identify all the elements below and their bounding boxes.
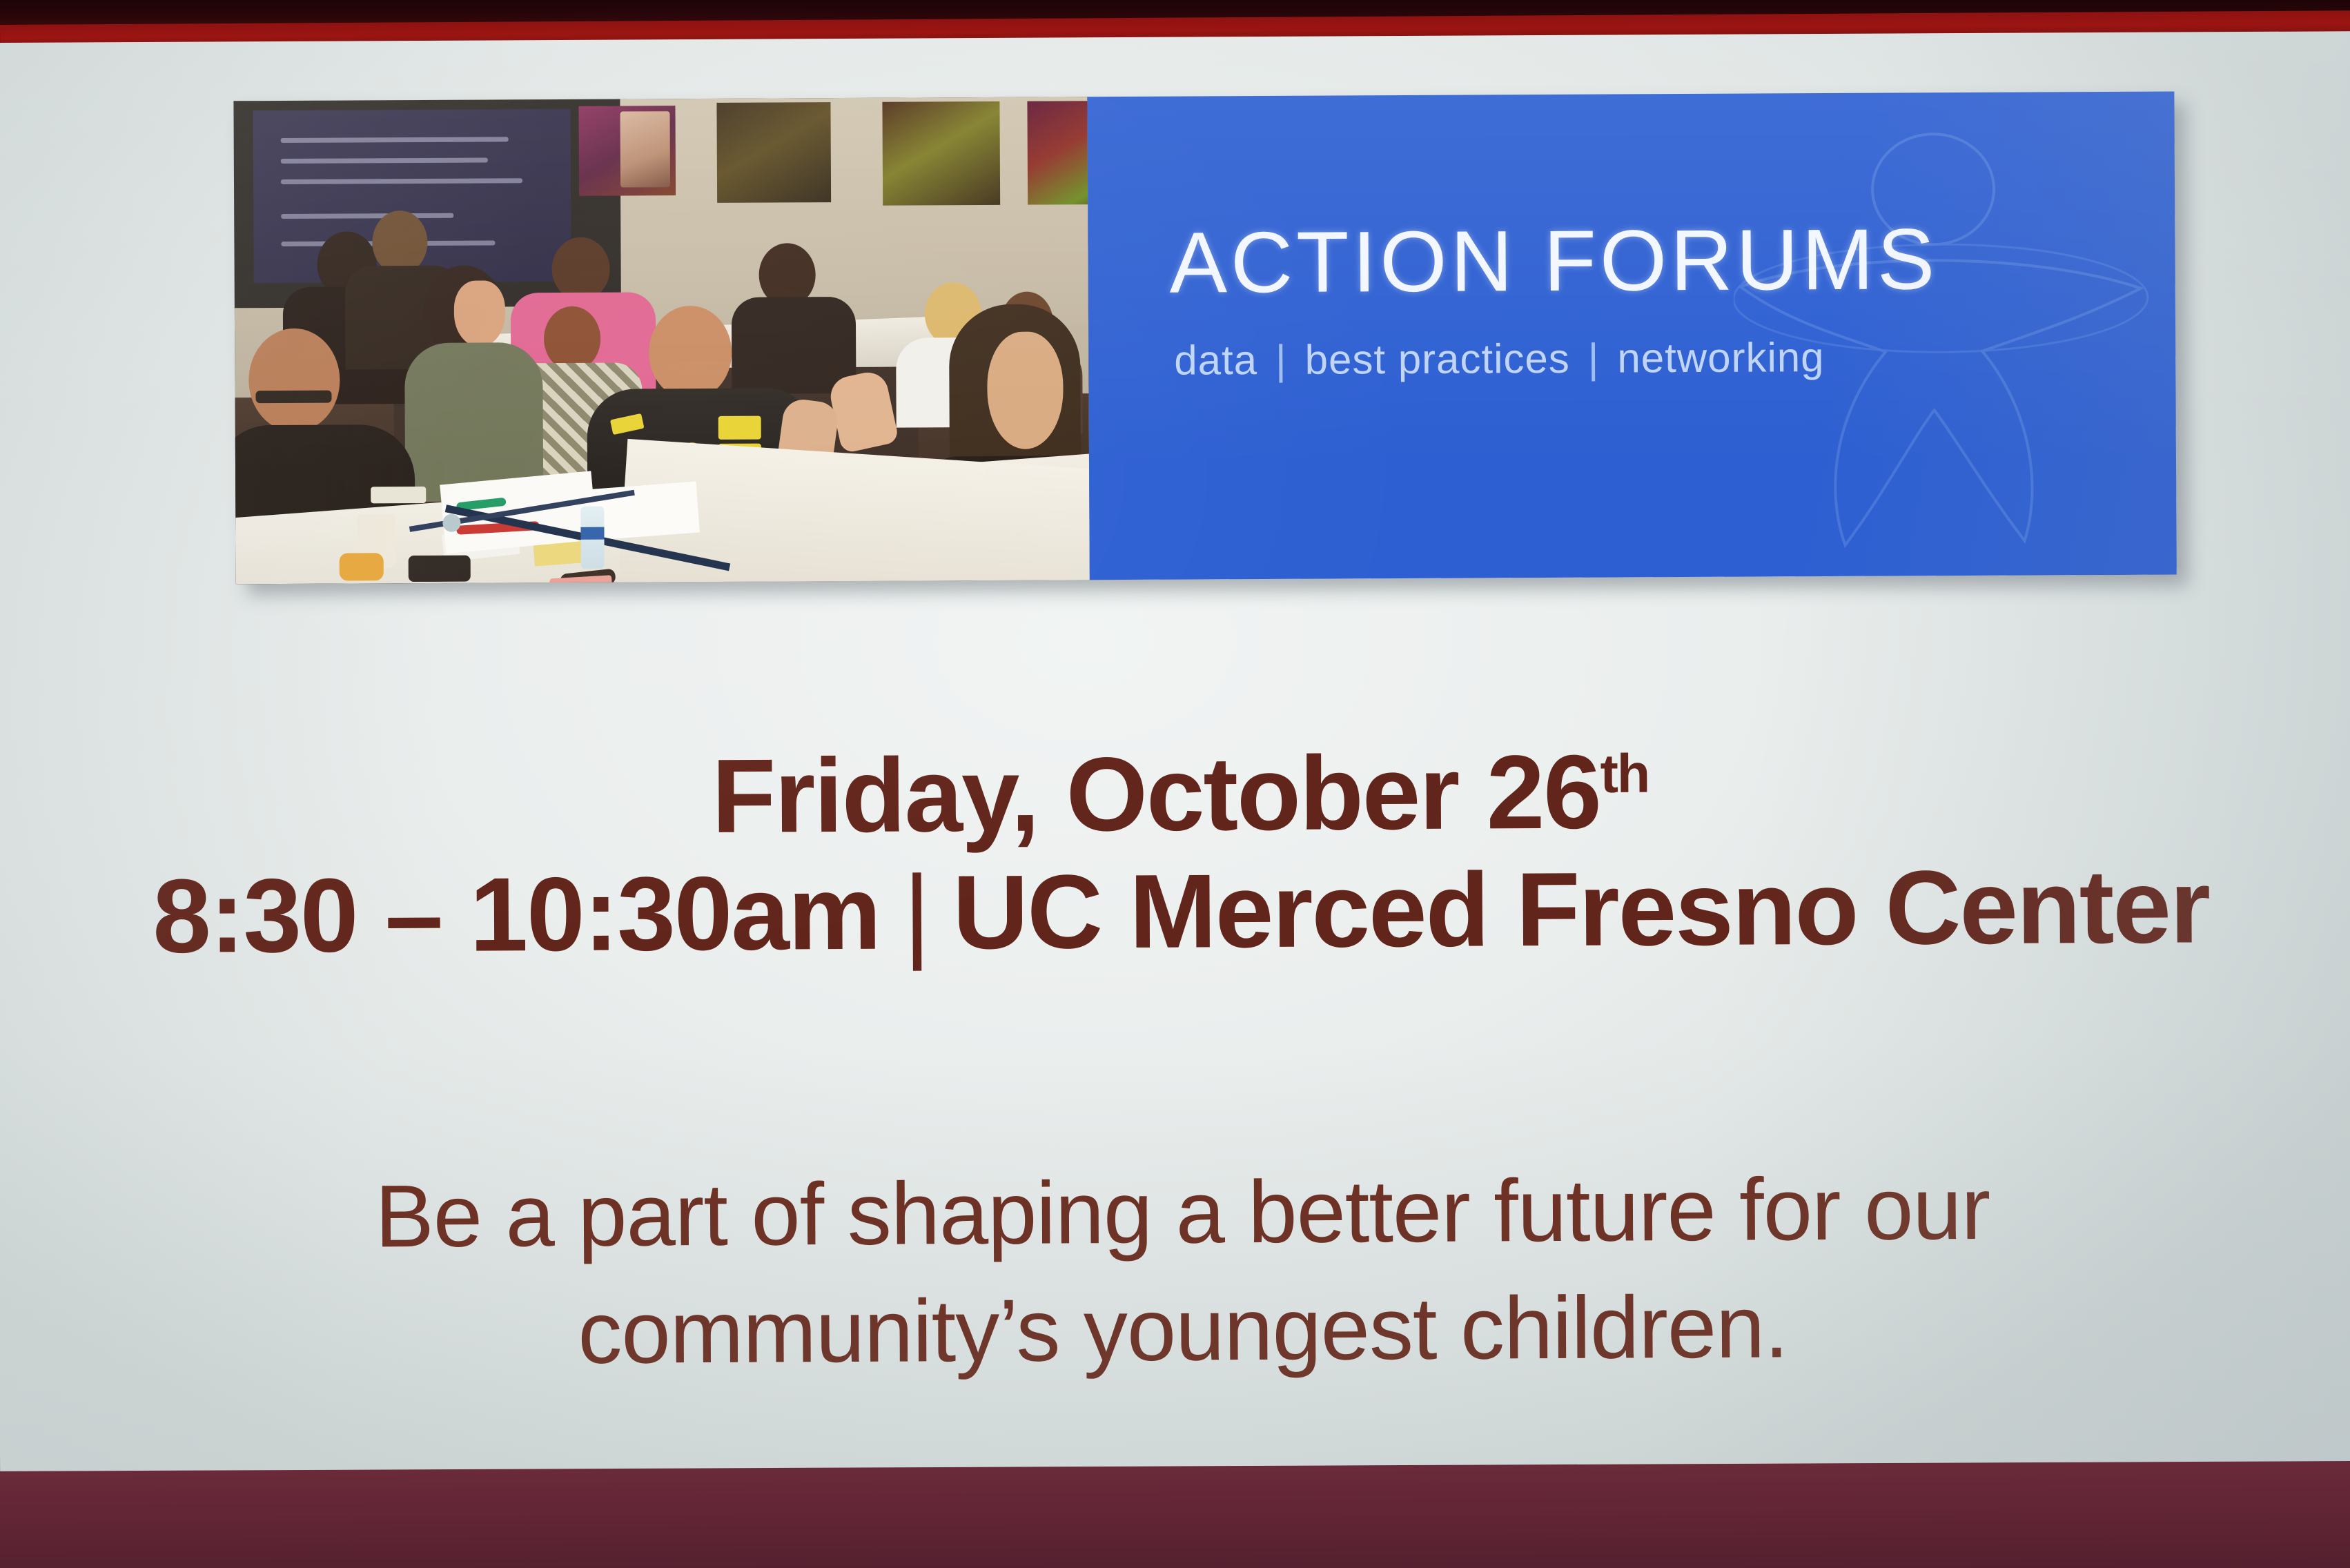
banner-title: ACTION FORUMS <box>1169 210 1938 312</box>
banner-subtitle-item-data: data <box>1174 337 1257 384</box>
event-date-ordinal: th <box>1600 743 1649 804</box>
bottom-maroon-band <box>0 1461 2350 1568</box>
banner-subtitle-separator-1: | <box>1257 337 1305 383</box>
event-time-venue-line: 8:30 – 10:30am|UC Merced Fresno Center <box>0 845 2350 978</box>
banner-blue-panel: ACTION FORUMS data|best practices|networ… <box>1087 92 2176 580</box>
banner-photo <box>233 97 1089 584</box>
message-line-1: Be a part of shaping a better future for… <box>0 1156 2350 1269</box>
banner-subtitle-separator-2: | <box>1570 335 1618 382</box>
action-forums-banner: ACTION FORUMS data|best practices|networ… <box>233 92 2176 585</box>
slide-content: ACTION FORUMS data|best practices|networ… <box>0 31 2350 1482</box>
message-line-2: community’s youngest children. <box>0 1273 2350 1386</box>
projected-slide-photo: ACTION FORUMS data|best practices|networ… <box>0 0 2350 1568</box>
presentation-slide: ACTION FORUMS data|best practices|networ… <box>0 31 2350 1482</box>
event-date-line: Friday, October 26th <box>0 728 2350 861</box>
banner-subtitle: data|best practices|networking <box>1174 333 1825 384</box>
banner-subtitle-item-best-practices: best practices <box>1304 335 1569 383</box>
event-venue: UC Merced Fresno Center <box>952 847 2209 971</box>
event-line-separator: | <box>880 854 953 972</box>
event-time-range: 8:30 – 10:30am <box>153 854 880 975</box>
event-date-text: Friday, October 26 <box>712 734 1600 855</box>
banner-subtitle-item-networking: networking <box>1617 334 1824 381</box>
